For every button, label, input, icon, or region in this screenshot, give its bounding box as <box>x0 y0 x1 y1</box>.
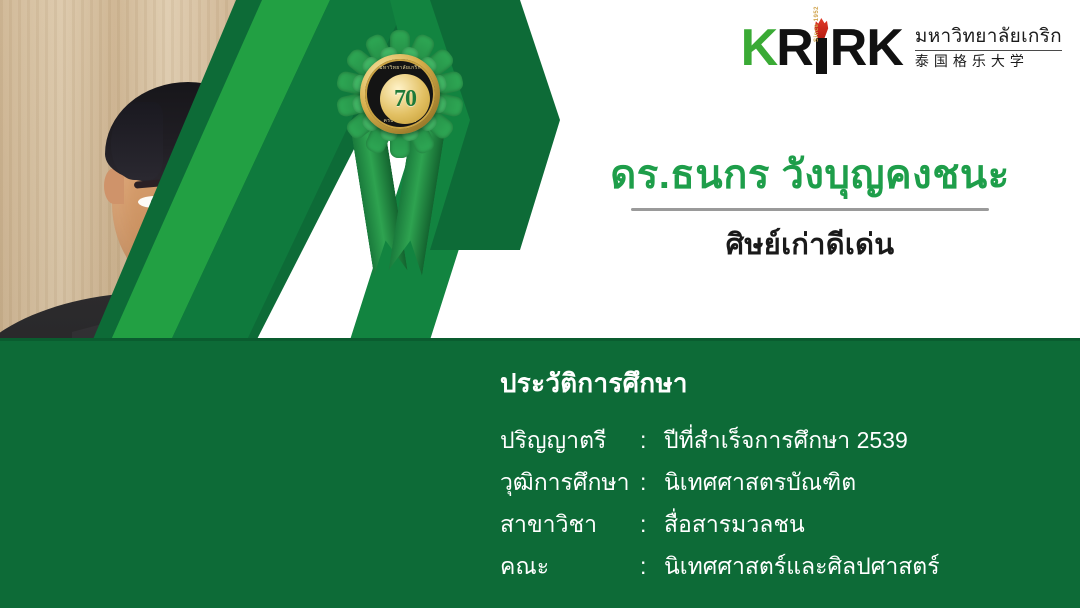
education-row: คณะ:นิเทศศาสตร์และศิลปศาสตร์ <box>500 549 940 591</box>
logo-letter-k: K <box>741 22 777 74</box>
education-row-separator: : <box>640 553 664 580</box>
education-row-value: นิเทศศาสตร์และศิลปศาสตร์ <box>664 549 940 585</box>
education-row: ปริญญาตรี:ปีที่สำเร็จการศึกษา 2539 <box>500 423 940 465</box>
education-row-separator: : <box>640 511 664 538</box>
education-row-value: ปีที่สำเร็จการศึกษา 2539 <box>664 423 908 459</box>
education-row-label: สาขาวิชา <box>500 507 640 543</box>
education-row-separator: : <box>640 469 664 496</box>
anniversary-medallion: มหาวิทยาลัยเกริก ครบรอบ 70 ปี 70 <box>360 54 440 134</box>
slide-canvas: มหาวิทยาลัยเกริก ครบรอบ 70 ปี 70 K R Sin… <box>0 0 1080 608</box>
torch-icon: Since 1952 <box>813 22 830 74</box>
medallion-ring: มหาวิทยาลัยเกริก ครบรอบ 70 ปี 70 <box>365 59 435 129</box>
logo-university-name: มหาวิทยาลัยเกริก 泰国格乐大学 <box>915 26 1062 70</box>
award-rosette: มหาวิทยาลัยเกริก ครบรอบ 70 ปี 70 <box>334 28 466 284</box>
logo-name-thai: มหาวิทยาลัยเกริก <box>915 26 1062 48</box>
logo-since-text: Since 1952 <box>814 6 825 42</box>
krirk-university-logo: K R Since 1952 RK มหาวิทยาลัยเกริก 泰国格乐大… <box>741 22 1062 74</box>
medallion-ring-top-text: มหาวิทยาลัยเกริก <box>365 64 435 72</box>
logo-name-chinese: 泰国格乐大学 <box>915 53 1062 70</box>
education-row: สาขาวิชา:สื่อสารมวลชน <box>500 507 940 549</box>
person-name-block: ดร.ธนกร วังบุญคงชนะ ศิษย์เก่าดีเด่น <box>560 150 1060 267</box>
education-row-label: วุฒิการศึกษา <box>500 465 640 501</box>
education-heading: ประวัติการศึกษา <box>500 363 688 404</box>
education-row: วุฒิการศึกษา:นิเทศศาสตรบัณฑิต <box>500 465 940 507</box>
anniversary-number: 70 <box>394 86 416 113</box>
medallion-core: 70 <box>380 74 430 124</box>
education-row-label: คณะ <box>500 549 640 585</box>
torch-handle <box>816 38 827 74</box>
logo-letter-r: R <box>776 22 813 74</box>
name-divider <box>631 208 989 211</box>
education-row-value: นิเทศศาสตรบัณฑิต <box>664 465 856 501</box>
education-row-label: ปริญญาตรี <box>500 423 640 459</box>
education-panel: ประวัติการศึกษา ปริญญาตรี:ปีที่สำเร็จการ… <box>0 338 1080 608</box>
logo-wordmark: K R Since 1952 RK <box>741 22 903 74</box>
logo-letters-rk: RK <box>830 22 903 74</box>
person-name: ดร.ธนกร วังบุญคงชนะ <box>560 150 1060 200</box>
logo-divider <box>915 50 1062 51</box>
education-rows: ปริญญาตรี:ปีที่สำเร็จการศึกษา 2539วุฒิกา… <box>500 423 940 591</box>
education-row-separator: : <box>640 427 664 454</box>
education-row-value: สื่อสารมวลชน <box>664 507 805 543</box>
person-subtitle: ศิษย์เก่าดีเด่น <box>560 221 1060 267</box>
